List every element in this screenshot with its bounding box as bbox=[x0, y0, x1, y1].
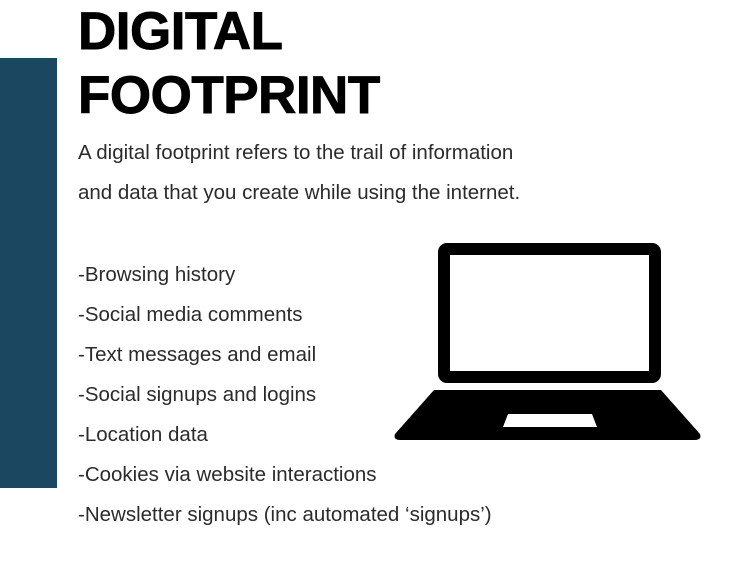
laptop-icon bbox=[390, 236, 706, 446]
title-line-1: DIGITAL bbox=[78, 0, 718, 64]
slide-canvas: DIGITAL FOOTPRINT A digital footprint re… bbox=[0, 0, 756, 567]
intro-line-1: A digital footprint refers to the trail … bbox=[78, 133, 638, 173]
intro-line-2: and data that you create while using the… bbox=[78, 173, 638, 213]
list-item: -Newsletter signups (inc automated ‘sign… bbox=[78, 495, 698, 535]
accent-block bbox=[0, 58, 57, 488]
title-line-2: FOOTPRINT bbox=[78, 64, 718, 128]
list-item: -Cookies via website interactions bbox=[78, 455, 698, 495]
intro-paragraph: A digital footprint refers to the trail … bbox=[78, 133, 638, 213]
page-title: DIGITAL FOOTPRINT bbox=[78, 0, 718, 128]
